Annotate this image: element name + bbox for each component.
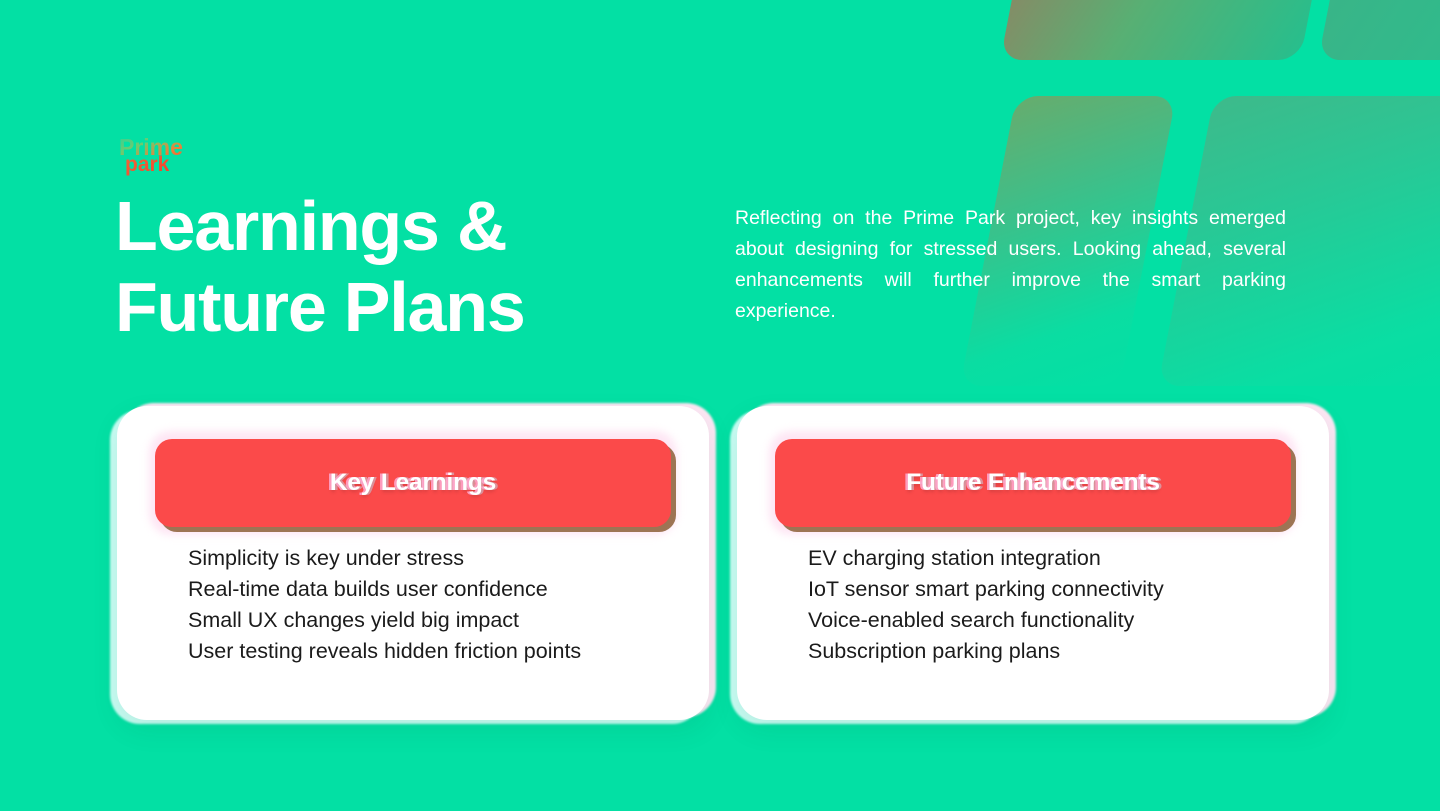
list-item: Small UX changes yield big impact	[188, 605, 685, 636]
list-item: Simplicity is key under stress	[188, 543, 685, 574]
card-surface: Key Learnings Simplicity is key under st…	[117, 406, 709, 720]
card-title: Future Enhancements	[906, 469, 1160, 497]
card-key-learnings: Key Learnings Simplicity is key under st…	[117, 406, 709, 720]
list-item: User testing reveals hidden friction poi…	[188, 636, 685, 667]
card-header-pill: Key Learnings	[155, 439, 671, 527]
list-item: EV charging station integration	[808, 543, 1305, 574]
key-learnings-list: Simplicity is key under stress Real-time…	[188, 543, 685, 667]
card-surface: Future Enhancements EV charging station …	[737, 406, 1329, 720]
card-header-pill: Future Enhancements	[775, 439, 1291, 527]
parking-slot-shape-2	[1318, 0, 1440, 60]
page-title-line-1: Learnings &	[115, 186, 735, 267]
card-header-future-enhancements: Future Enhancements	[775, 439, 1291, 527]
prime-park-logo: Prime park	[117, 133, 203, 179]
parking-slot-shape-1	[1000, 0, 1324, 60]
logo-word-park: park	[125, 153, 170, 176]
card-title: Key Learnings	[330, 469, 496, 497]
list-item: Subscription parking plans	[808, 636, 1305, 667]
page-title: Learnings & Future Plans	[115, 186, 735, 348]
card-header-key-learnings: Key Learnings	[155, 439, 671, 527]
list-item: IoT sensor smart parking connectivity	[808, 574, 1305, 605]
intro-paragraph: Reflecting on the Prime Park project, ke…	[735, 203, 1286, 358]
list-item: Voice-enabled search functionality	[808, 605, 1305, 636]
future-enhancements-list: EV charging station integration IoT sens…	[808, 543, 1305, 667]
list-item: Real-time data builds user confidence	[188, 574, 685, 605]
card-future-enhancements: Future Enhancements EV charging station …	[737, 406, 1329, 720]
page-title-line-2: Future Plans	[115, 267, 735, 348]
